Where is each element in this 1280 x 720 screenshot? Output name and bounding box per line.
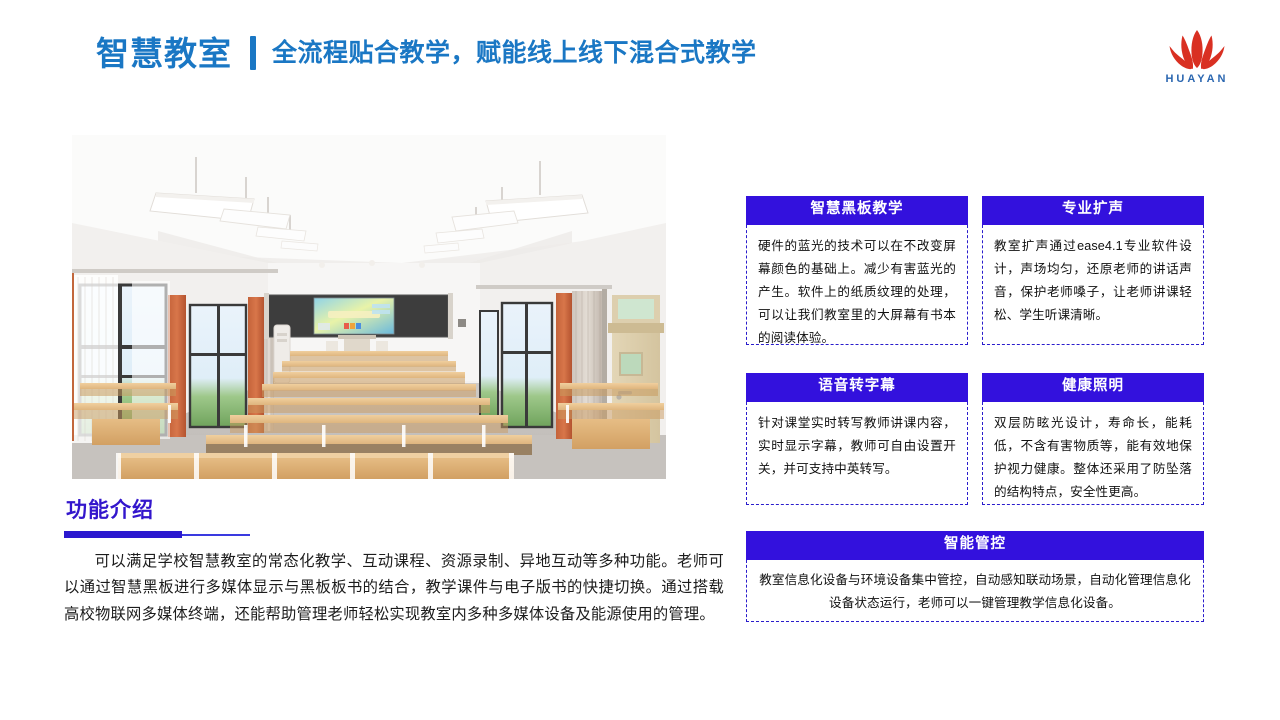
huayan-logo: HUAYAN (1142, 28, 1252, 90)
title-divider (250, 36, 256, 70)
feature-card-grid: 智慧黑板教学 硬件的蓝光的技术可以在不改变屏幕颜色的基础上。减少有害蓝光的产生。… (746, 196, 1204, 622)
feature-card-pro-audio[interactable]: 专业扩声 教室扩声通过ease4.1专业软件设计，声场均匀，还原老师的讲话声音，… (982, 196, 1204, 345)
feature-card-row-2: 语音转字幕 针对课堂实时转写教师讲课内容， 实时显示字幕，教师可自由设置开关，并… (746, 373, 1204, 505)
feature-card-row-3: 智能管控 教室信息化设备与环境设备集中管控，自动感知联动场景，自动化管理信息化设… (746, 531, 1204, 622)
feature-card-title: 专业扩声 (982, 196, 1204, 225)
huayan-petal-icon (1142, 28, 1252, 72)
feature-card-title: 语音转字幕 (746, 373, 968, 402)
logo-wordmark: HUAYAN (1142, 73, 1252, 85)
feature-card-title: 健康照明 (982, 373, 1204, 402)
feature-card-title: 智慧黑板教学 (746, 196, 968, 225)
card-row-spacer (746, 505, 1204, 531)
smart-classroom-photo (72, 135, 666, 479)
section-body-text: 可以满足学校智慧教室的常态化教学、互动课程、资源录制、异地互动等多种功能。老师可… (64, 549, 724, 628)
feature-card-speech-to-subtitle[interactable]: 语音转字幕 针对课堂实时转写教师讲课内容， 实时显示字幕，教师可自由设置开关，并… (746, 373, 968, 505)
feature-card-title: 智能管控 (746, 531, 1204, 560)
feature-card-body: 针对课堂实时转写教师讲课内容， 实时显示字幕，教师可自由设置开关，并可支持中英转… (746, 402, 968, 505)
underline-thin (182, 534, 250, 536)
feature-card-body: 硬件的蓝光的技术可以在不改变屏幕颜色的基础上。减少有害蓝光的产生。软件上的纸质纹… (746, 225, 968, 345)
feature-card-smart-control[interactable]: 智能管控 教室信息化设备与环境设备集中管控，自动感知联动场景，自动化管理信息化设… (746, 531, 1204, 622)
feature-card-healthy-lighting[interactable]: 健康照明 双层防眩光设计，寿命长，能耗低，不含有害物质等，能有效地保护视力健康。… (982, 373, 1204, 505)
feature-intro-section: 功能介绍 可以满足学校智慧教室的常态化教学、互动课程、资源录制、异地互动等多种功… (64, 500, 724, 628)
classroom-illustration (72, 135, 666, 479)
page-title: 智慧教室 全流程贴合教学，赋能线上线下混合式教学 (96, 36, 757, 70)
page-title-main: 智慧教室 (96, 37, 232, 70)
feature-card-smart-blackboard[interactable]: 智慧黑板教学 硬件的蓝光的技术可以在不改变屏幕颜色的基础上。减少有害蓝光的产生。… (746, 196, 968, 345)
underline-thick (64, 531, 182, 538)
feature-card-row-1: 智慧黑板教学 硬件的蓝光的技术可以在不改变屏幕颜色的基础上。减少有害蓝光的产生。… (746, 196, 1204, 345)
page-header: 智慧教室 全流程贴合教学，赋能线上线下混合式教学 HUAYAN (0, 0, 1280, 112)
feature-card-body: 教室扩声通过ease4.1专业软件设计，声场均匀，还原老师的讲话声音，保护老师嗓… (982, 225, 1204, 345)
feature-card-body: 双层防眩光设计，寿命长，能耗低，不含有害物质等，能有效地保护视力健康。整体还采用… (982, 402, 1204, 505)
section-title-underline (64, 530, 724, 542)
feature-card-body: 教室信息化设备与环境设备集中管控，自动感知联动场景，自动化管理信息化设备状态运行… (746, 560, 1204, 622)
section-title: 功能介绍 (66, 500, 724, 521)
page-title-subtitle: 全流程贴合教学，赋能线上线下混合式教学 (272, 41, 757, 66)
